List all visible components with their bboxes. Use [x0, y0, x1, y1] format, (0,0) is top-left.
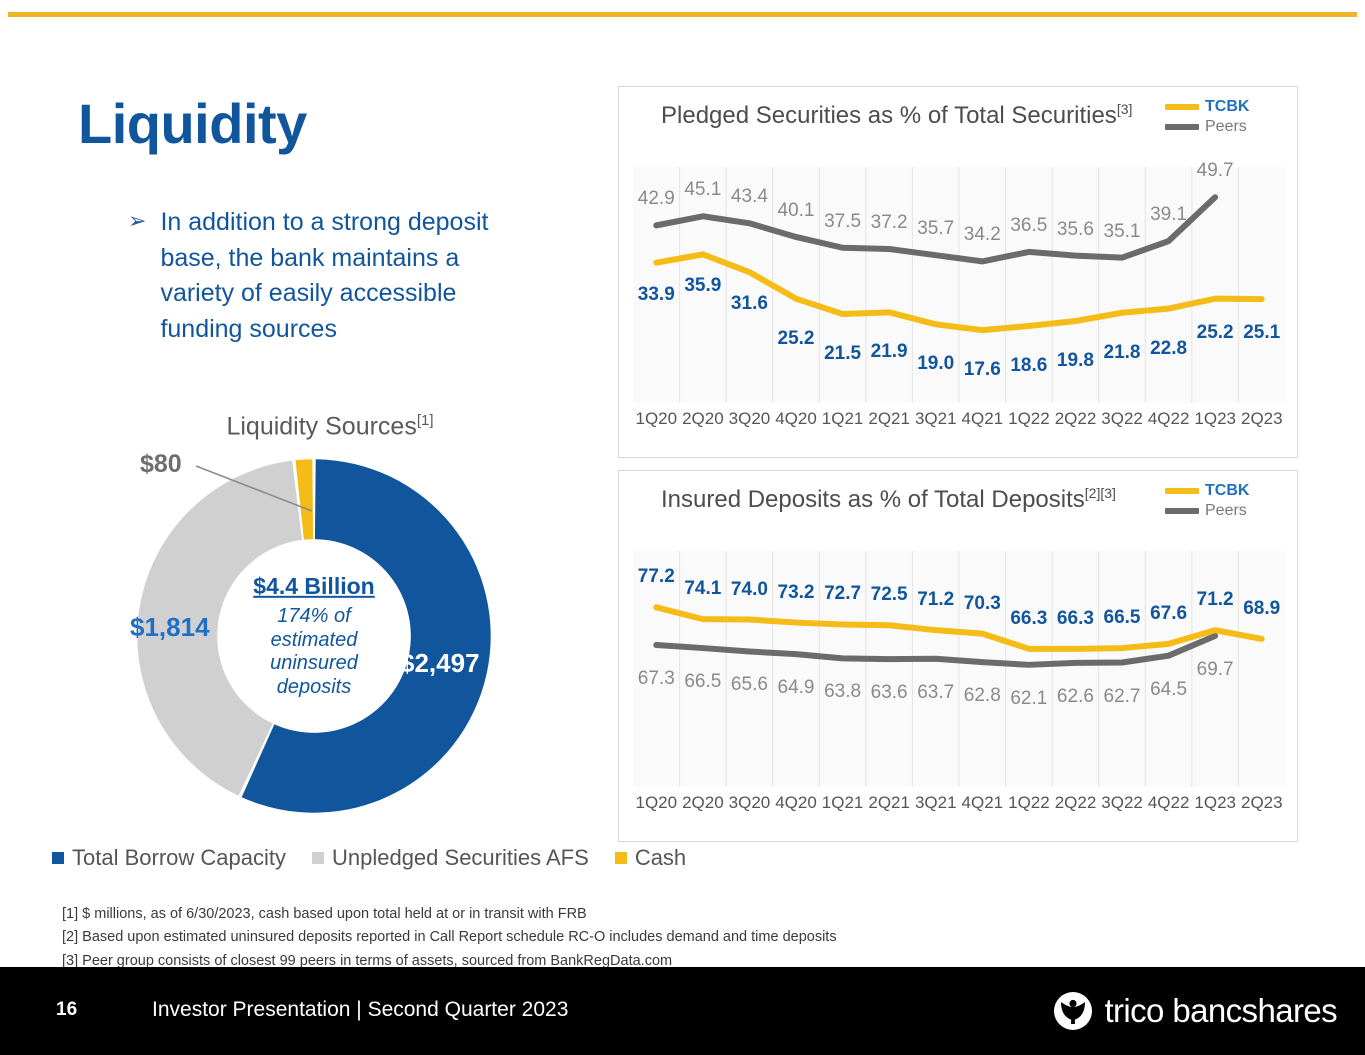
footnote-line: [1] $ millions, as of 6/30/2023, cash ba… — [62, 903, 837, 926]
bullet-item: ➢ In addition to a strong deposit base, … — [128, 205, 523, 347]
x-axis-tick-label: 4Q21 — [959, 409, 1006, 429]
donut-legend-label: Total Borrow Capacity — [72, 845, 286, 871]
chart2-legend-item-peers: Peers — [1165, 501, 1285, 521]
tcbk-line-swatch-icon — [1165, 104, 1199, 110]
chart1-title: Pledged Securities as % of Total Securit… — [661, 101, 1132, 130]
donut-label-cash: $80 — [140, 450, 182, 479]
x-axis-tick-label: 3Q20 — [726, 409, 773, 429]
tcbk-line-swatch-icon — [1165, 488, 1199, 494]
top-accent-rule — [8, 12, 1357, 17]
x-axis-tick-label: 3Q22 — [1099, 409, 1146, 429]
chart-svg — [633, 167, 1285, 403]
chart1-x-axis: 1Q202Q203Q204Q201Q212Q213Q214Q211Q222Q22… — [633, 409, 1285, 429]
x-axis-tick-label: 1Q22 — [1006, 409, 1053, 429]
x-axis-tick-label: 4Q20 — [773, 793, 820, 813]
chart1-legend-label-tcbk: TCBK — [1205, 98, 1249, 116]
slide: Liquidity ➢ In addition to a strong depo… — [0, 0, 1365, 1055]
x-axis-tick-label: 1Q22 — [1006, 793, 1053, 813]
x-axis-tick-label: 1Q23 — [1192, 793, 1239, 813]
chart2-title: Insured Deposits as % of Total Deposits[… — [661, 485, 1116, 514]
x-axis-tick-label: 2Q21 — [866, 409, 913, 429]
x-axis-tick-label: 3Q22 — [1099, 793, 1146, 813]
chart2-x-axis: 1Q202Q203Q204Q201Q212Q213Q214Q211Q222Q22… — [633, 793, 1285, 813]
chart-svg — [633, 551, 1285, 787]
chart2-legend-label-tcbk: TCBK — [1205, 482, 1249, 500]
slide-footer: 16 Investor Presentation | Second Quarte… — [0, 967, 1365, 1055]
trico-mark-icon — [1053, 991, 1093, 1031]
donut-legend-label: Unpledged Securities AFS — [332, 845, 589, 871]
chart1-legend: TCBK Peers — [1165, 97, 1285, 137]
x-axis-tick-label: 2Q22 — [1052, 409, 1099, 429]
x-axis-tick-label: 4Q22 — [1145, 793, 1192, 813]
bullet-text: In addition to a strong deposit base, th… — [160, 205, 523, 347]
x-axis-tick-label: 4Q21 — [959, 793, 1006, 813]
x-axis-tick-label: 3Q21 — [912, 793, 959, 813]
footnote-line: [2] Based upon estimated uninsured depos… — [62, 926, 837, 949]
donut-title-footnote: [1] — [417, 412, 434, 429]
x-axis-tick-label: 2Q22 — [1052, 793, 1099, 813]
chart1-title-footnote: [3] — [1117, 101, 1133, 117]
chart2-legend-item-tcbk: TCBK — [1165, 481, 1285, 501]
peers-line-swatch-icon — [1165, 508, 1199, 514]
donut-legend-item: Total Borrow Capacity — [52, 845, 286, 871]
x-axis-tick-label: 2Q21 — [866, 793, 913, 813]
footnotes: [1] $ millions, as of 6/30/2023, cash ba… — [62, 903, 837, 973]
x-axis-tick-label: 2Q20 — [680, 409, 727, 429]
donut-label-unpledged-securities: $1,814 — [130, 612, 210, 643]
x-axis-tick-label: 3Q20 — [726, 793, 773, 813]
donut-legend-item: Cash — [615, 845, 686, 871]
x-axis-tick-label: 4Q22 — [1145, 409, 1192, 429]
donut-legend-item: Unpledged Securities AFS — [312, 845, 589, 871]
legend-swatch-icon — [312, 852, 324, 864]
x-axis-tick-label: 2Q20 — [680, 793, 727, 813]
chart2-title-text: Insured Deposits as % of Total Deposits — [661, 486, 1085, 513]
donut-chart-title: Liquidity Sources[1] — [120, 412, 540, 441]
x-axis-tick-label: 1Q21 — [819, 409, 866, 429]
chart1-legend-item-peers: Peers — [1165, 117, 1285, 137]
x-axis-tick-label: 1Q20 — [633, 409, 680, 429]
donut-label-borrow-capacity: $2,497 — [400, 648, 480, 679]
x-axis-tick-label: 1Q23 — [1192, 409, 1239, 429]
x-axis-tick-label: 1Q21 — [819, 793, 866, 813]
company-logo: trico bancshares — [1053, 991, 1337, 1031]
chart2-title-footnote: [2][3] — [1085, 485, 1116, 501]
logo-wordmark: trico bancshares — [1104, 992, 1337, 1030]
x-axis-tick-label: 1Q20 — [633, 793, 680, 813]
peers-line-swatch-icon — [1165, 124, 1199, 130]
x-axis-tick-label: 3Q21 — [912, 409, 959, 429]
x-axis-tick-label: 4Q20 — [773, 409, 820, 429]
chart1-plot-area — [633, 167, 1285, 403]
chart2-plot-area — [633, 551, 1285, 787]
chart1-legend-item-tcbk: TCBK — [1165, 97, 1285, 117]
donut-title-text: Liquidity Sources — [226, 412, 416, 440]
donut-legend: Total Borrow CapacityUnpledged Securitie… — [52, 845, 686, 871]
chart1-title-text: Pledged Securities as % of Total Securit… — [661, 102, 1117, 129]
page-title: Liquidity — [78, 95, 307, 154]
x-axis-tick-label: 2Q23 — [1239, 409, 1286, 429]
page-number: 16 — [56, 999, 77, 1021]
arrow-bullet-icon: ➢ — [128, 205, 146, 347]
chart2-legend: TCBK Peers — [1165, 481, 1285, 521]
legend-swatch-icon — [52, 852, 64, 864]
chart1-legend-label-peers: Peers — [1205, 118, 1247, 136]
chart-panel-insured-deposits: Insured Deposits as % of Total Deposits[… — [618, 470, 1298, 842]
footer-text: Investor Presentation | Second Quarter 2… — [152, 998, 568, 1022]
legend-swatch-icon — [615, 852, 627, 864]
donut-legend-label: Cash — [635, 845, 686, 871]
chart-panel-pledged-securities: Pledged Securities as % of Total Securit… — [618, 86, 1298, 458]
chart2-legend-label-peers: Peers — [1205, 502, 1247, 520]
x-axis-tick-label: 2Q23 — [1239, 793, 1286, 813]
